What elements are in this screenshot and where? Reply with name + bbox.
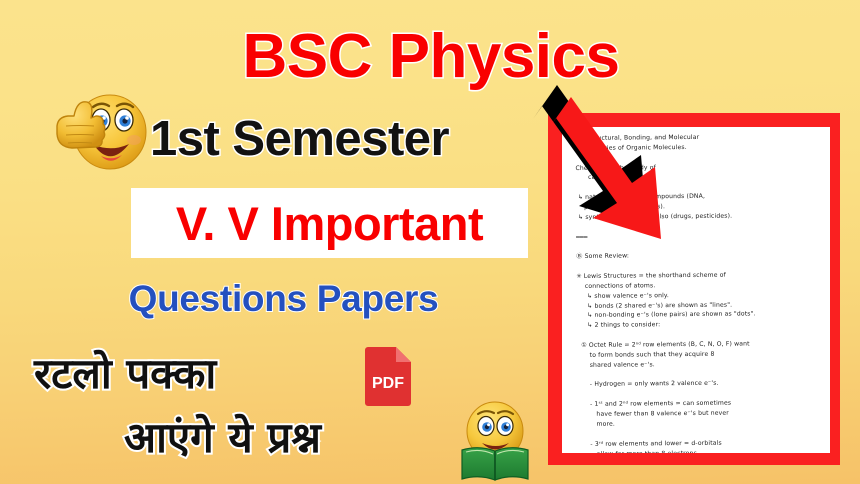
notes-body-text: ⬜ = Structural, Bonding, and Molecular P… (571, 132, 826, 453)
semester-subtitle: 1st Semester (150, 108, 540, 170)
page-title: BSC Physics (196, 18, 666, 94)
questions-papers-label: Questions Papers (106, 278, 461, 320)
pdf-file-icon: PDF (362, 344, 414, 406)
pdf-icon-label: PDF (372, 375, 404, 392)
hindi-tagline-line-2: आएंगे ये प्रश्न (124, 408, 321, 465)
notes-paper-sheet: ⬜ = Structural, Bonding, and Molecular P… (562, 127, 830, 453)
important-banner-label: V. V Important (176, 196, 483, 251)
thumbs-up-smiley-emoji (44, 76, 156, 176)
important-banner: V. V Important (131, 188, 528, 258)
youtube-thumbnail-poster: BSC Physics 1st Semester V. V Important … (0, 0, 860, 484)
hindi-tagline-line-1: रटलो पक्का (34, 344, 216, 401)
reading-book-smiley-emoji (452, 398, 538, 482)
handwritten-notes-panel: ⬜ = Structural, Bonding, and Molecular P… (548, 113, 840, 465)
